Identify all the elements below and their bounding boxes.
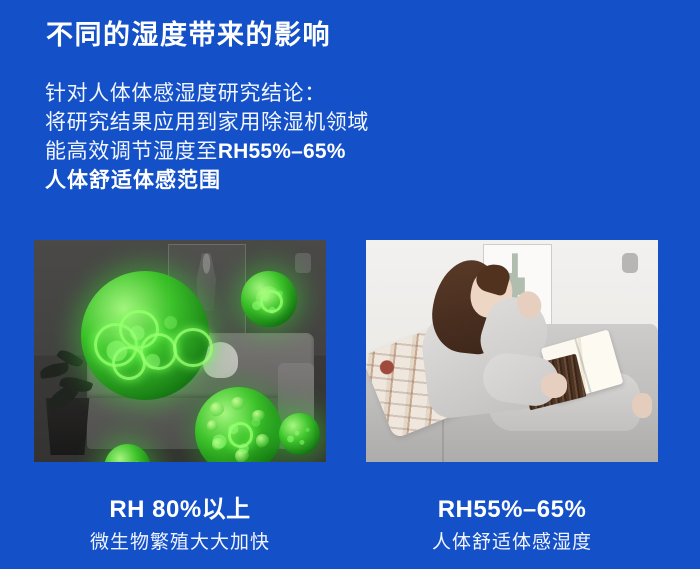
panel-image-high-humidity: [34, 240, 326, 462]
foot: [632, 393, 652, 417]
body-line-4: 人体舒适体感范围: [45, 166, 369, 195]
dark-room-scene: [34, 240, 326, 462]
caption-title: RH55%–65%: [366, 495, 658, 525]
body-line-2: 将研究结果应用到家用除湿机领域: [45, 108, 369, 137]
humidity-comparison-poster: 不同的湿度带来的影响 针对人体体感湿度研究结论： 将研究结果应用到家用除湿机领域…: [0, 0, 700, 569]
panel-image-comfort-humidity: [366, 240, 658, 462]
caption-high-humidity: RH 80%以上 微生物繁殖大大加快: [34, 495, 326, 555]
page-title: 不同的湿度带来的影响: [46, 19, 331, 51]
body-line-3-prefix: 能高效调节湿度至: [45, 140, 218, 163]
caption-subtitle: 人体舒适体感湿度: [366, 531, 658, 555]
woman-reading: [366, 240, 658, 462]
caption-comfort-humidity: RH55%–65% 人体舒适体感湿度: [366, 495, 658, 555]
microbe-icon: [279, 413, 320, 455]
wall-speaker-icon: [295, 253, 311, 273]
microbe-icon: [241, 271, 296, 327]
comparison-panels: [0, 240, 700, 462]
body-line-1: 针对人体体感湿度研究结论：: [45, 79, 369, 108]
caption-title: RH 80%以上: [34, 495, 326, 525]
body-copy: 针对人体体感湿度研究结论： 将研究结果应用到家用除湿机领域 能高效调节湿度至RH…: [45, 79, 369, 195]
bright-room-scene: [366, 240, 658, 462]
humidity-range-highlight: RH55%–65%: [218, 140, 346, 163]
microbe-icon: [81, 271, 209, 400]
body-line-3: 能高效调节湿度至RH55%–65%: [45, 137, 369, 166]
hand-holding-book: [541, 373, 567, 397]
caption-subtitle: 微生物繁殖大大加快: [34, 531, 326, 555]
